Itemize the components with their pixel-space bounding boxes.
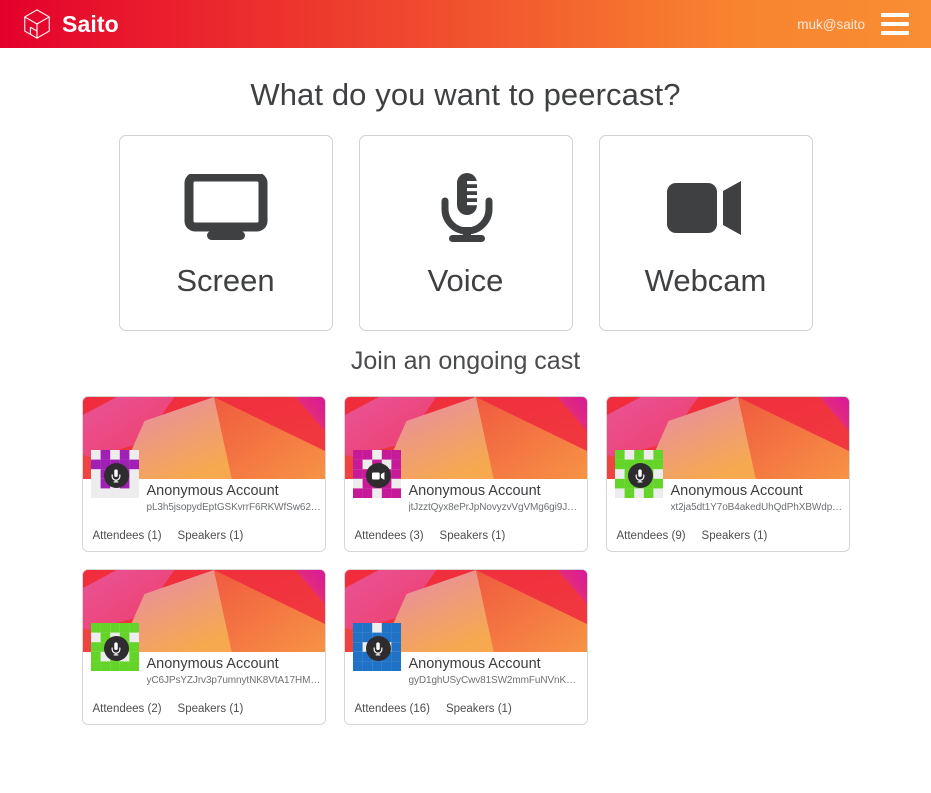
cast-card[interactable]: Anonymous Account xt2ja5dt1Y7oB4akedUhQd… <box>606 396 850 552</box>
cast-account-name: Anonymous Account <box>409 657 585 672</box>
option-card-screen[interactable]: Screen <box>119 135 333 331</box>
cast-account-name: Anonymous Account <box>409 484 585 499</box>
peercast-options: Screen Voice <box>0 135 931 331</box>
option-card-voice[interactable]: Voice <box>359 135 573 331</box>
cast-identity: Anonymous Account gyD1ghUSyCwv81SW2mmFuN… <box>345 652 587 694</box>
speakers-count: Speakers (1) <box>178 530 244 542</box>
avatar-media-badge <box>628 463 653 488</box>
cast-identity: Anonymous Account pL3h5jsopydEptGSKvrrF6… <box>83 479 325 521</box>
speakers-count: Speakers (1) <box>178 703 244 715</box>
microphone-icon <box>635 469 645 483</box>
attendees-count: Attendees (1) <box>93 530 162 542</box>
option-label: Screen <box>176 263 274 299</box>
video-camera-icon <box>665 167 747 249</box>
cast-public-key: gyD1ghUSyCwv81SW2mmFuNVnKWWtE... <box>409 675 585 686</box>
cast-account-name: Anonymous Account <box>147 484 323 499</box>
option-label: Webcam <box>645 263 767 299</box>
attendees-count: Attendees (16) <box>355 703 430 715</box>
video-camera-icon <box>372 471 385 481</box>
avatar <box>615 450 663 498</box>
app-header: Saito muk@saito <box>0 0 931 48</box>
cast-card[interactable]: Anonymous Account yC6JPsYZJrv3p7umnytNK8… <box>82 569 326 725</box>
section-title: Join an ongoing cast <box>0 347 931 376</box>
speakers-count: Speakers (1) <box>702 530 768 542</box>
cast-meta: Attendees (1) Speakers (1) <box>93 530 244 542</box>
cast-public-key: yC6JPsYZJrv3p7umnytNK8VtA17HMGHc... <box>147 675 323 686</box>
cast-card[interactable]: Anonymous Account jtJzztQyx8ePrJpNovyzvV… <box>344 396 588 552</box>
avatar <box>91 623 139 671</box>
cast-meta: Attendees (16) Speakers (1) <box>355 703 512 715</box>
header-right: muk@saito <box>797 13 909 35</box>
cast-public-key: xt2ja5dt1Y7oB4akedUhQdPhXBWdpQT... <box>671 502 847 513</box>
cast-public-key: pL3h5jsopydEptGSKvrrF6RKWfSw62Dh... <box>147 502 323 513</box>
avatar-media-badge <box>366 636 391 661</box>
attendees-count: Attendees (9) <box>617 530 686 542</box>
avatar <box>353 450 401 498</box>
cast-account-name: Anonymous Account <box>671 484 847 499</box>
cast-meta: Attendees (3) Speakers (1) <box>355 530 506 542</box>
cast-card[interactable]: Anonymous Account gyD1ghUSyCwv81SW2mmFuN… <box>344 569 588 725</box>
brand[interactable]: Saito <box>22 8 119 40</box>
attendees-count: Attendees (2) <box>93 703 162 715</box>
attendees-count: Attendees (3) <box>355 530 424 542</box>
main-content: What do you want to peercast? Screen <box>0 77 931 735</box>
speakers-count: Speakers (1) <box>440 530 506 542</box>
hamburger-menu-icon[interactable] <box>881 13 909 35</box>
microphone-icon <box>431 167 501 249</box>
avatar <box>353 623 401 671</box>
cast-identity: Anonymous Account yC6JPsYZJrv3p7umnytNK8… <box>83 652 325 694</box>
cast-account-name: Anonymous Account <box>147 657 323 672</box>
cast-public-key: jtJzztQyx8ePrJpNovyzvVgVMg6gi9JQhA... <box>409 502 585 513</box>
avatar-media-badge <box>104 636 129 661</box>
option-card-webcam[interactable]: Webcam <box>599 135 813 331</box>
cube-wireframe-icon <box>22 8 52 40</box>
cast-card[interactable]: Anonymous Account pL3h5jsopydEptGSKvrrF6… <box>82 396 326 552</box>
cast-meta: Attendees (2) Speakers (1) <box>93 703 244 715</box>
cast-identity: Anonymous Account xt2ja5dt1Y7oB4akedUhQd… <box>607 479 849 521</box>
user-email[interactable]: muk@saito <box>797 17 865 32</box>
avatar <box>91 450 139 498</box>
option-label: Voice <box>428 263 504 299</box>
avatar-media-badge <box>366 463 391 488</box>
speakers-count: Speakers (1) <box>446 703 512 715</box>
cast-meta: Attendees (9) Speakers (1) <box>617 530 768 542</box>
monitor-icon <box>183 167 269 249</box>
avatar-media-badge <box>104 463 129 488</box>
cast-identity: Anonymous Account jtJzztQyx8ePrJpNovyzvV… <box>345 479 587 521</box>
brand-name: Saito <box>62 11 119 38</box>
microphone-icon <box>111 469 121 483</box>
microphone-icon <box>373 642 383 656</box>
microphone-icon <box>111 642 121 656</box>
page-title: What do you want to peercast? <box>0 77 931 113</box>
ongoing-casts-grid: Anonymous Account pL3h5jsopydEptGSKvrrF6… <box>0 396 931 725</box>
